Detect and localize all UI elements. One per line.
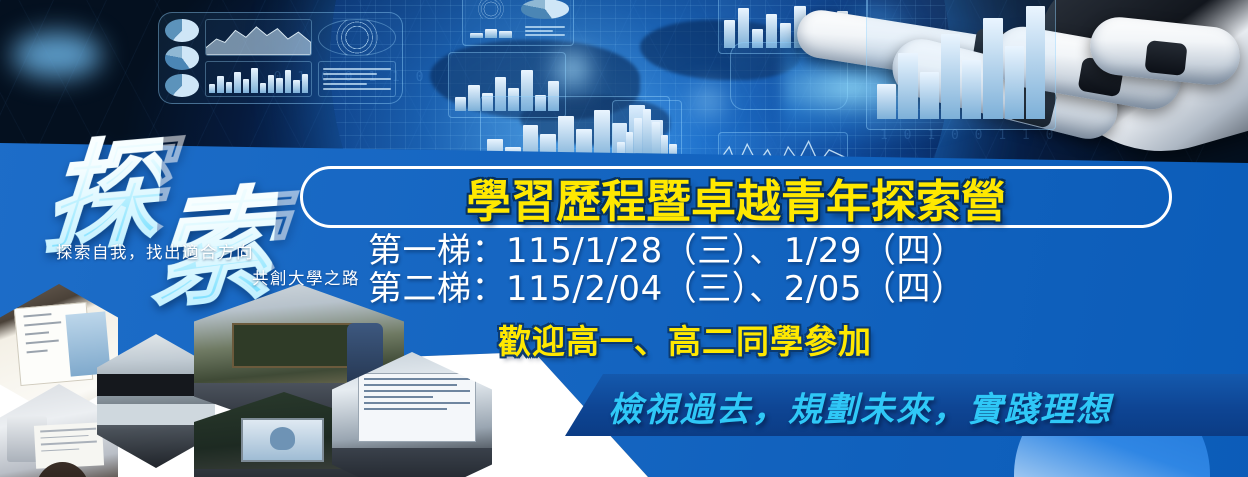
bar-chart-icon [867, 0, 1055, 129]
pie-chart-icon [165, 19, 199, 42]
pie-chart-icon [165, 74, 199, 97]
projector-screen [241, 418, 324, 461]
paper-object [34, 422, 105, 468]
text-lines-panel [521, 22, 569, 42]
stats-hud-panel [462, 0, 574, 46]
analytics-dashboard-hud [158, 12, 403, 104]
radar-rings-icon [318, 19, 396, 56]
promo-banner: 1 0 1 0 0 1 1 0 0 1 1 0 1 0 0 1 1 1 0 1 … [0, 0, 1248, 477]
bar-chart-panel [205, 61, 312, 98]
hand-chart-hud [866, 0, 1056, 130]
welcome-text: 歡迎高一、高二同學參加 [498, 315, 1058, 363]
bar-chart-icon [467, 22, 515, 42]
audience-rows [332, 448, 492, 477]
area-chart-panel [205, 19, 312, 56]
text-lines-icon [319, 62, 395, 97]
pie-chart-icon [521, 0, 569, 19]
text-lines-icon [521, 22, 569, 42]
robot-knuckle [1144, 40, 1187, 76]
screen-person [270, 427, 295, 450]
slogan-text: 檢視過去，規劃未來，實踐理想 [608, 382, 1228, 430]
area-chart-icon [206, 20, 311, 55]
page-title: 學習歷程暨卓越青年探索營 [306, 170, 1166, 224]
pie-chart-icon [165, 46, 199, 69]
photo-collage: 學習歷程檔案 [0, 282, 494, 477]
session-date-row: 第一梯：115/1/28（三）、1/29（四） [368, 232, 1168, 270]
gauge-icon [467, 0, 515, 19]
bar-chart-panel [467, 22, 515, 42]
monitor-screen [358, 373, 476, 442]
bar-chart-icon [206, 62, 311, 97]
blackboard-object [232, 323, 362, 368]
subtitle-line-1: 探索自我，找出適合方向 [56, 243, 254, 262]
text-lines-panel [318, 61, 396, 98]
